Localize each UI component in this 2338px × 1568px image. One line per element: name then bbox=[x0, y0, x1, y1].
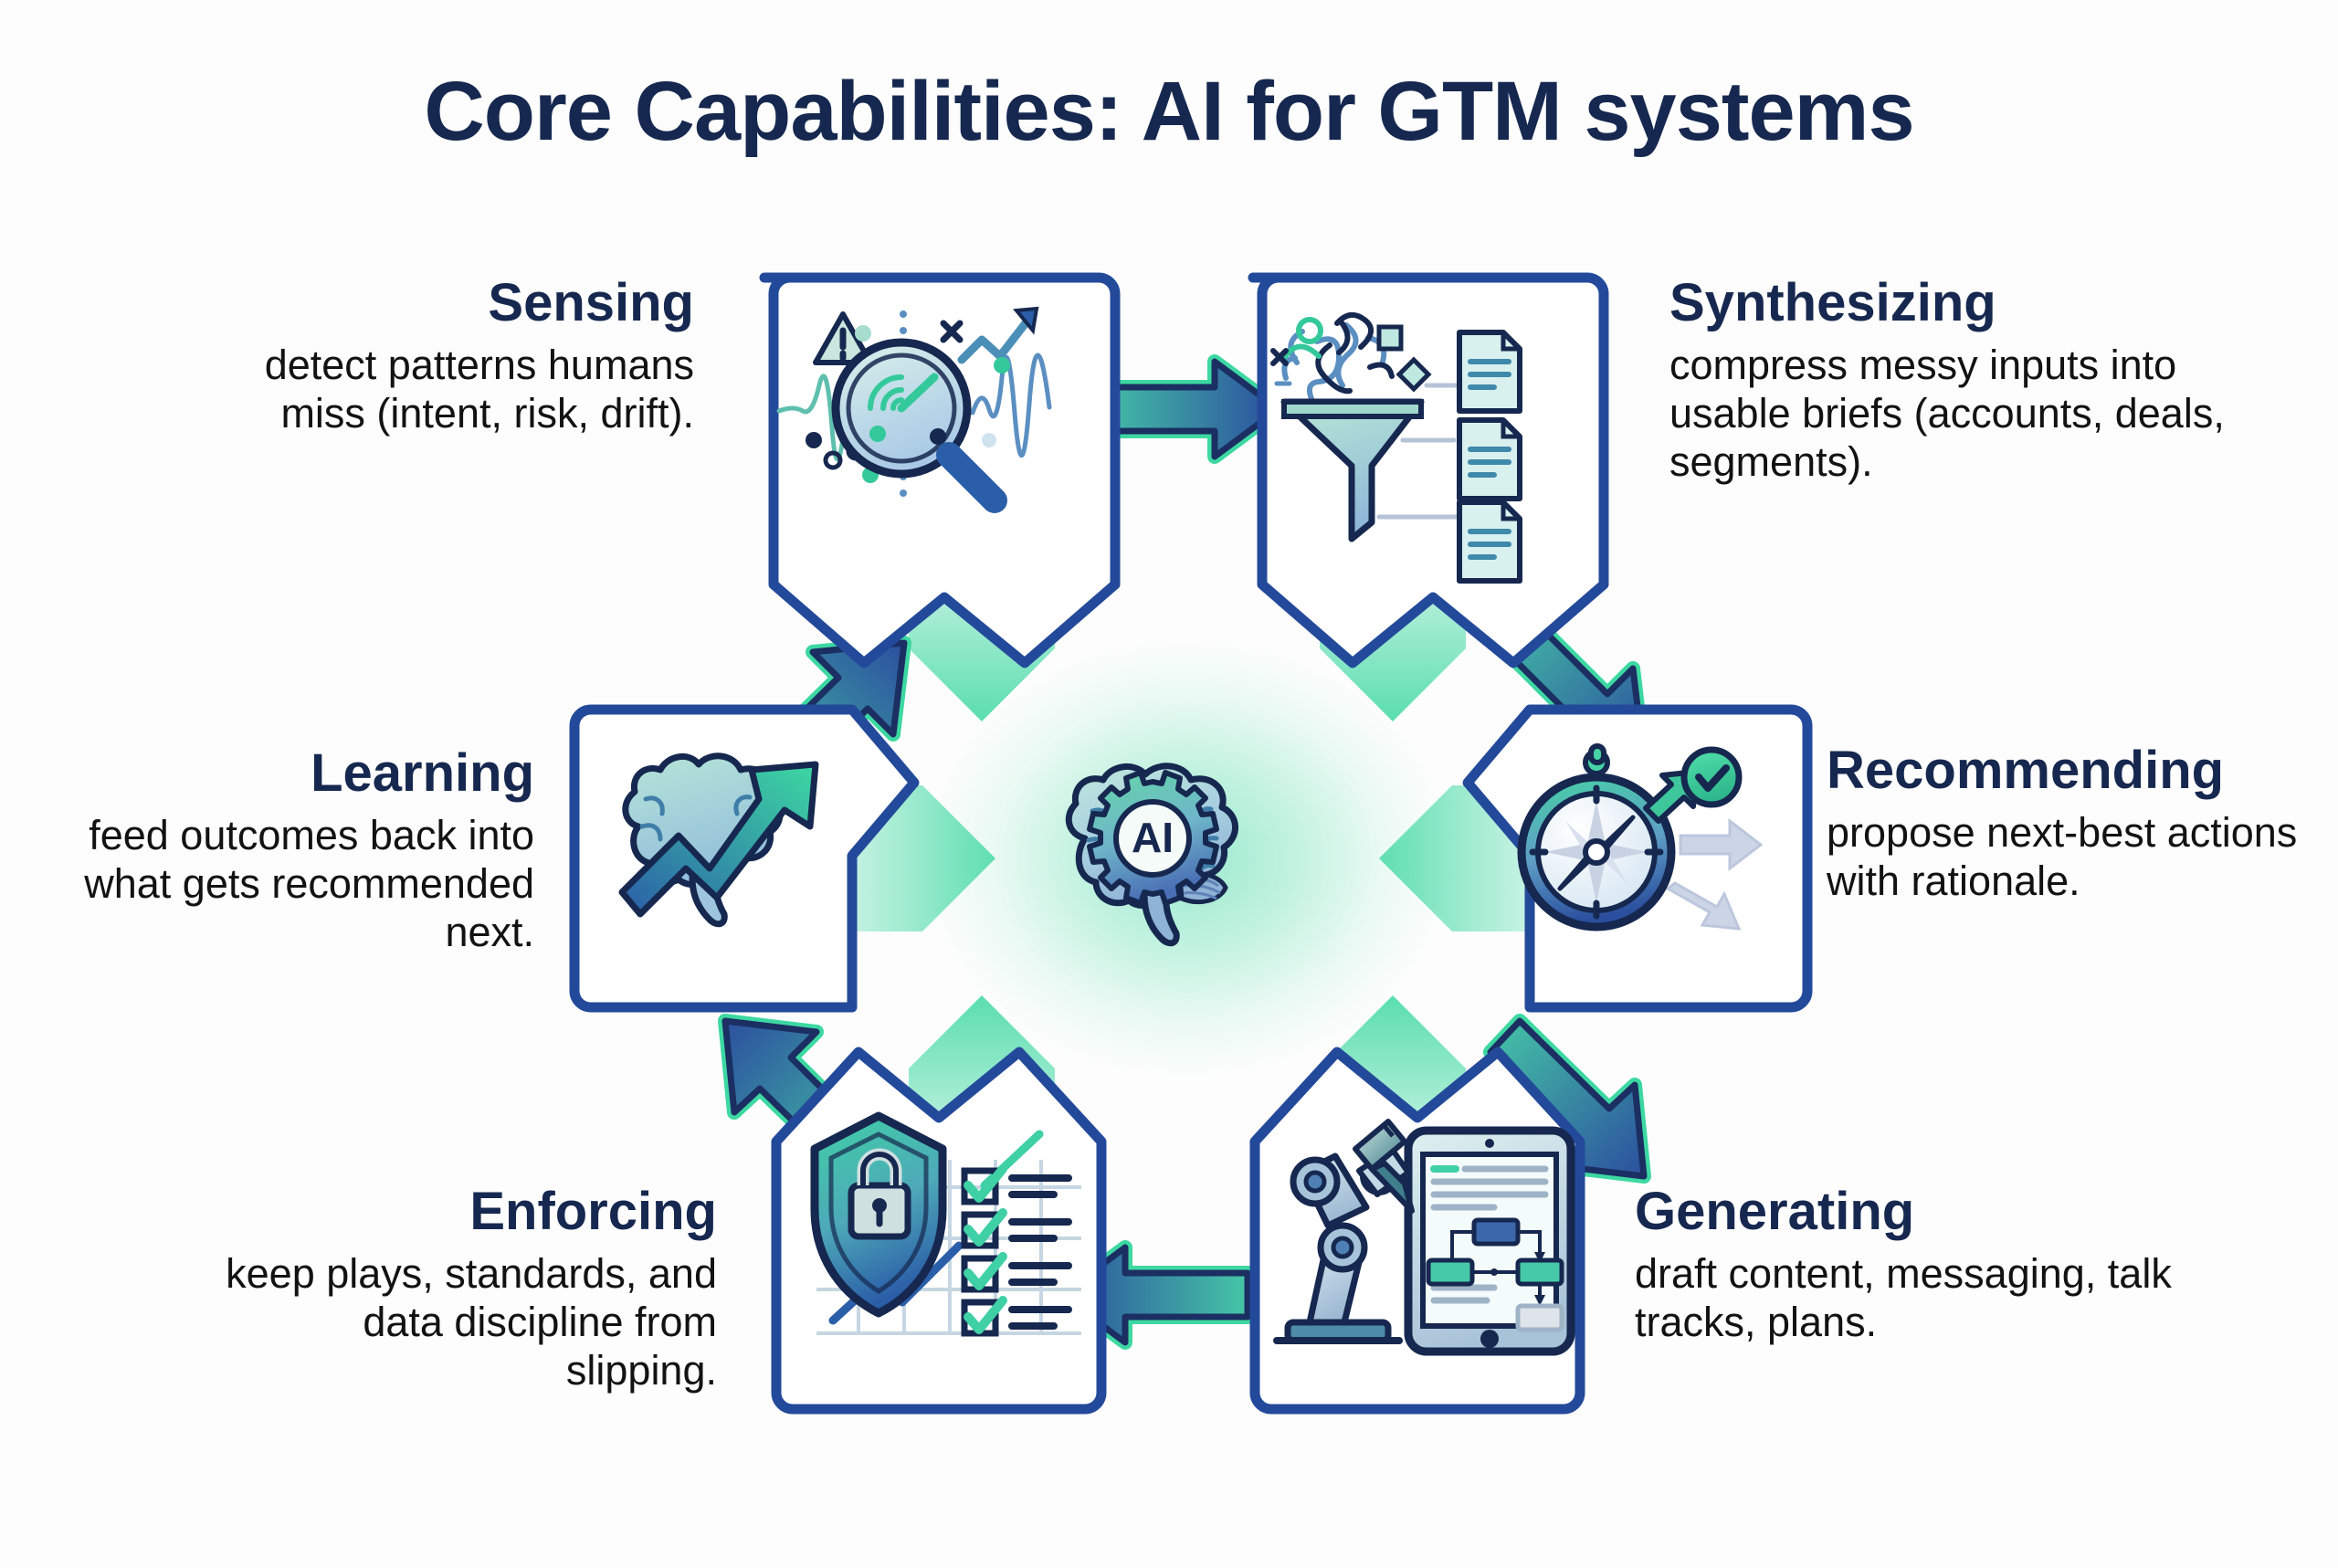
label-learning-desc: feed outcomes back into what gets recomm… bbox=[23, 811, 534, 956]
card-synthesizing[interactable] bbox=[1233, 258, 1607, 682]
magnifier-radar-icon bbox=[744, 258, 1119, 682]
label-enforcing-desc: keep plays, standards, and data discipli… bbox=[205, 1249, 717, 1394]
compass-check-icon bbox=[1450, 689, 1811, 1027]
label-synthesizing-title: Synthesizing bbox=[1669, 274, 2236, 333]
page-title: Core Capabilities: AI for GTM systems bbox=[0, 64, 2338, 160]
label-enforcing-title: Enforcing bbox=[205, 1183, 717, 1242]
card-generating[interactable] bbox=[1235, 1032, 1618, 1429]
hub-label: AI bbox=[1132, 814, 1174, 861]
label-recommending-title: Recommending bbox=[1827, 742, 2338, 801]
card-learning[interactable] bbox=[571, 689, 932, 1027]
label-generating: Generating draft content, messaging, tal… bbox=[1635, 1183, 2183, 1346]
card-sensing[interactable] bbox=[744, 258, 1119, 682]
label-recommending: Recommending propose next-best actions w… bbox=[1827, 742, 2338, 905]
label-synthesizing: Synthesizing compress messy inputs into … bbox=[1669, 274, 2236, 486]
funnel-documents-icon bbox=[1233, 258, 1607, 682]
label-sensing-title: Sensing bbox=[237, 274, 694, 333]
card-recommending[interactable] bbox=[1450, 689, 1811, 1027]
infographic-canvas: Core Capabilities: AI for GTM systems bbox=[0, 0, 2338, 1568]
shield-lock-checklist-icon bbox=[756, 1032, 1140, 1429]
card-enforcing[interactable] bbox=[756, 1032, 1140, 1429]
label-learning: Learning feed outcomes back into what ge… bbox=[23, 744, 534, 956]
label-synthesizing-desc: compress messy inputs into usable briefs… bbox=[1669, 341, 2236, 486]
label-generating-desc: draft content, messaging, talk tracks, p… bbox=[1635, 1249, 2183, 1346]
label-generating-title: Generating bbox=[1635, 1183, 2183, 1242]
label-enforcing: Enforcing keep plays, standards, and dat… bbox=[205, 1183, 717, 1394]
label-recommending-desc: propose next-best actions with rationale… bbox=[1827, 808, 2338, 905]
center-ai-hub: AI bbox=[1032, 740, 1324, 968]
brain-growth-arrow-icon bbox=[571, 689, 932, 1027]
label-learning-title: Learning bbox=[23, 744, 534, 804]
robot-arm-tablet-icon bbox=[1235, 1032, 1618, 1429]
label-sensing-desc: detect patterns humans miss (intent, ris… bbox=[237, 341, 694, 437]
label-sensing: Sensing detect patterns humans miss (int… bbox=[237, 274, 694, 437]
